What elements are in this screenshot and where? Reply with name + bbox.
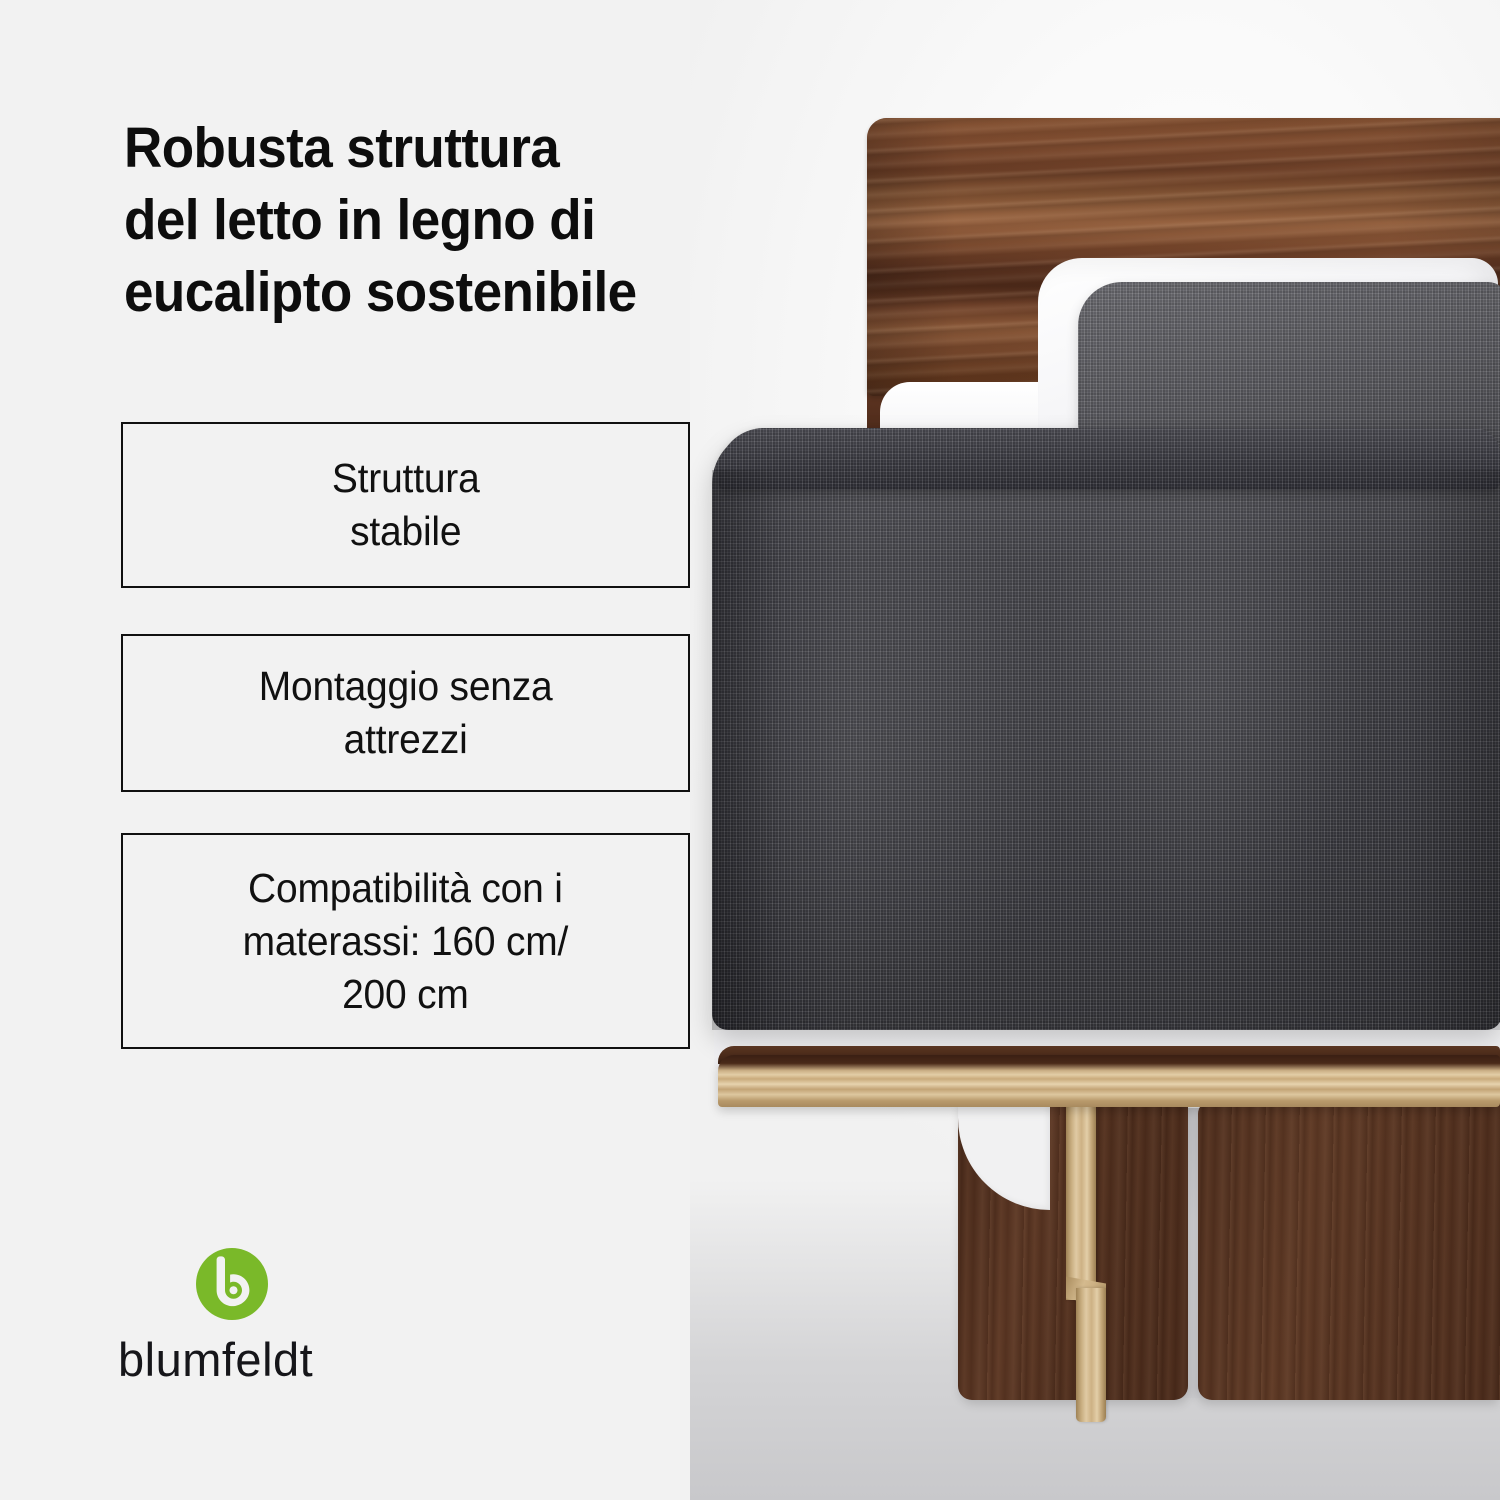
feature-line-2: attrezzi bbox=[343, 716, 467, 762]
duvet-fold-lip bbox=[718, 428, 1500, 490]
feature-line-3: 200 cm bbox=[342, 971, 469, 1017]
page-title: Robusta struttura del letto in legno di … bbox=[124, 112, 701, 328]
plywood-joint-lower bbox=[1076, 1288, 1106, 1422]
feature-box-text: Montaggio senza attrezzi bbox=[259, 660, 553, 766]
feature-box-text: Struttura stabile bbox=[332, 452, 480, 558]
feature-line-1: Montaggio senza bbox=[259, 663, 553, 709]
headline-line-1: Robusta struttura bbox=[124, 112, 701, 184]
duvet-cover bbox=[712, 430, 1500, 1030]
product-feature-card: Robusta struttura del letto in legno di … bbox=[0, 0, 1500, 1500]
grey-pillow bbox=[1078, 282, 1500, 450]
feature-line-1: Compatibilità con i bbox=[248, 865, 563, 911]
headline-line-2: del letto in legno di bbox=[124, 184, 701, 256]
feature-line-2: materassi: 160 cm/ bbox=[243, 918, 569, 964]
feature-box-struttura-stabile: Struttura stabile bbox=[121, 422, 690, 588]
blumfeldt-leaf-b-icon bbox=[196, 1248, 268, 1320]
headline-line-3: eucalipto sostenibile bbox=[124, 256, 701, 328]
feature-box-text: Compatibilità con i materassi: 160 cm/ 2… bbox=[243, 862, 569, 1021]
feature-box-montaggio-senza-attrezzi: Montaggio senza attrezzi bbox=[121, 634, 690, 792]
platform-slab-plywood-edge bbox=[718, 1055, 1500, 1107]
feature-line-1: Struttura bbox=[332, 455, 480, 501]
brand-wordmark: blumfeldt bbox=[118, 1332, 313, 1387]
plywood-joint-upper bbox=[1066, 1100, 1096, 1300]
product-photo bbox=[690, 0, 1500, 1500]
brand-logo: blumfeldt bbox=[118, 1248, 378, 1408]
bed-leg-right bbox=[1198, 1100, 1500, 1400]
feature-box-compatibilita-materassi: Compatibilità con i materassi: 160 cm/ 2… bbox=[121, 833, 690, 1049]
feature-line-2: stabile bbox=[350, 508, 461, 554]
